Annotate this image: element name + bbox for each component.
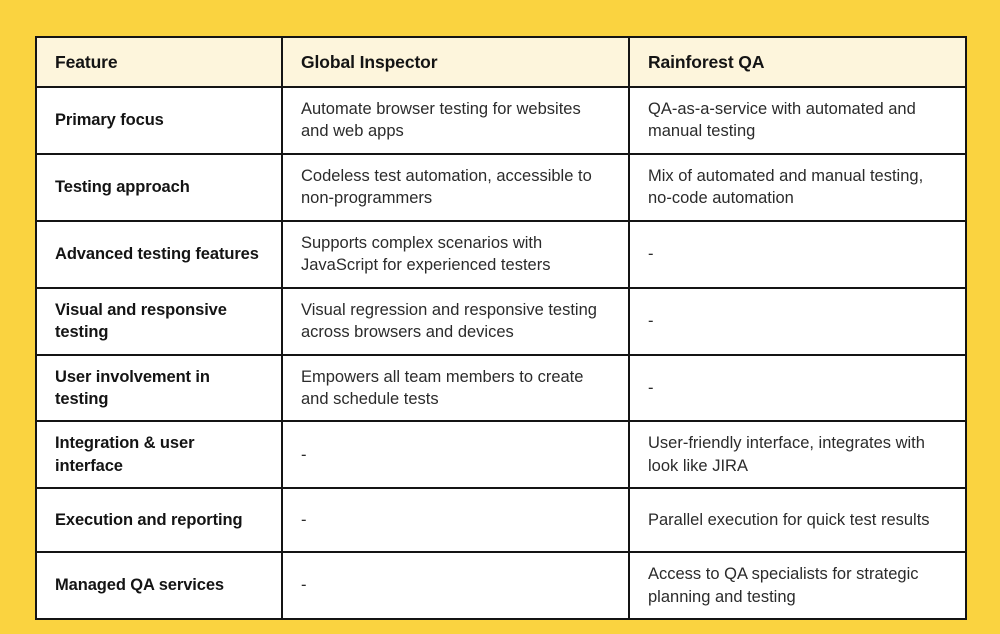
cell-feature: Primary focus (36, 87, 282, 154)
table-row: Visual and responsive testing Visual reg… (36, 288, 966, 355)
cell-feature: Managed QA services (36, 552, 282, 619)
cell-rainforest-qa: - (629, 288, 966, 355)
column-header-rainforest-qa: Rainforest QA (629, 37, 966, 87)
column-header-global-inspector: Global Inspector (282, 37, 629, 87)
comparison-table-container: Feature Global Inspector Rainforest QA P… (35, 36, 967, 596)
cell-rainforest-qa: Access to QA specialists for strategic p… (629, 552, 966, 619)
cell-rainforest-qa: - (629, 221, 966, 288)
page-canvas: Feature Global Inspector Rainforest QA P… (0, 0, 1000, 634)
cell-feature: Visual and responsive testing (36, 288, 282, 355)
comparison-table: Feature Global Inspector Rainforest QA P… (35, 36, 967, 620)
cell-rainforest-qa: Mix of automated and manual testing, no-… (629, 154, 966, 221)
table-row: Execution and reporting - Parallel execu… (36, 488, 966, 552)
cell-global-inspector: Supports complex scenarios with JavaScri… (282, 221, 629, 288)
cell-feature: Testing approach (36, 154, 282, 221)
table-row: Primary focus Automate browser testing f… (36, 87, 966, 154)
cell-feature: Integration & user interface (36, 421, 282, 488)
table-row: Managed QA services - Access to QA speci… (36, 552, 966, 619)
table-body: Primary focus Automate browser testing f… (36, 87, 966, 619)
table-header-row: Feature Global Inspector Rainforest QA (36, 37, 966, 87)
cell-global-inspector: Codeless test automation, accessible to … (282, 154, 629, 221)
cell-global-inspector: Automate browser testing for websites an… (282, 87, 629, 154)
cell-global-inspector: - (282, 421, 629, 488)
cell-rainforest-qa: Parallel execution for quick test result… (629, 488, 966, 552)
table-row: Integration & user interface - User-frie… (36, 421, 966, 488)
table-header: Feature Global Inspector Rainforest QA (36, 37, 966, 87)
column-header-feature: Feature (36, 37, 282, 87)
table-row: Testing approach Codeless test automatio… (36, 154, 966, 221)
cell-feature: Advanced testing features (36, 221, 282, 288)
table-row: User involvement in testing Empowers all… (36, 355, 966, 422)
table-row: Advanced testing features Supports compl… (36, 221, 966, 288)
cell-rainforest-qa: - (629, 355, 966, 422)
cell-global-inspector: - (282, 552, 629, 619)
cell-feature: User involvement in testing (36, 355, 282, 422)
cell-rainforest-qa: User-friendly interface, integrates with… (629, 421, 966, 488)
cell-feature: Execution and reporting (36, 488, 282, 552)
cell-global-inspector: - (282, 488, 629, 552)
cell-rainforest-qa: QA-as-a-service with automated and manua… (629, 87, 966, 154)
cell-global-inspector: Empowers all team members to create and … (282, 355, 629, 422)
cell-global-inspector: Visual regression and responsive testing… (282, 288, 629, 355)
